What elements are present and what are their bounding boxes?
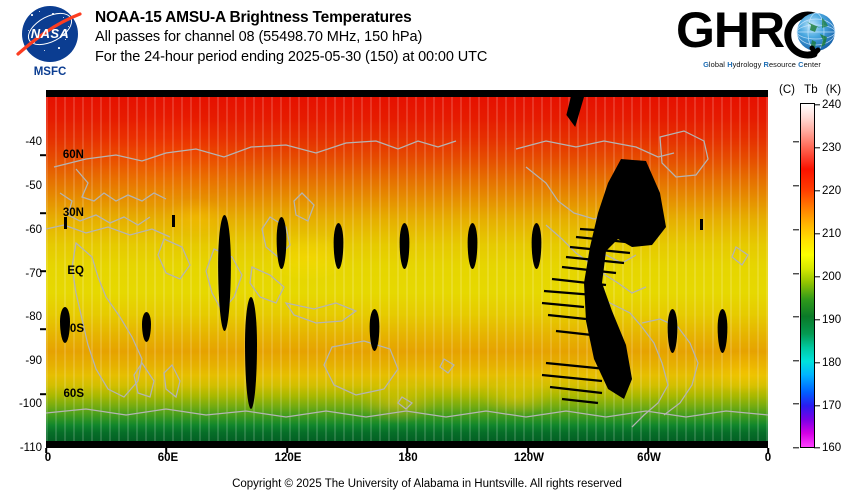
colorbar-celsius-tick: -90 — [25, 355, 42, 367]
y-tick-label: 30N — [63, 207, 84, 219]
colorbar-kelvin-tick: 200 — [822, 271, 841, 283]
map-plot-frame — [46, 90, 768, 448]
colorbar-kelvin-tick: 160 — [822, 442, 841, 454]
nasa-center-label: MSFC — [14, 66, 86, 78]
copyright-notice: Copyright © 2025 The University of Alaba… — [0, 478, 854, 490]
colorbar-header: (C) Tb (K) — [779, 84, 853, 96]
colorbar-gradient — [800, 103, 815, 448]
y-tick-label: EQ — [67, 265, 84, 277]
x-tick-label: 120W — [514, 452, 544, 464]
ghrc-acronym-icon: GHR — [676, 4, 848, 60]
colorbar-kelvin-tick: 170 — [822, 400, 841, 412]
missing-data-swath-americas — [46, 97, 768, 441]
brightness-temperature-map — [46, 97, 768, 441]
colorbar-variable-label: Tb — [804, 84, 817, 96]
colorbar-kelvin-unit: (K) — [826, 84, 841, 96]
x-tick-label: 0 — [45, 452, 51, 464]
subtitle-period: For the 24-hour period ending 2025-05-30… — [95, 47, 655, 67]
colorbar-celsius-tick: -70 — [25, 268, 42, 280]
colorbar-kelvin-tick: 230 — [822, 142, 841, 154]
nasa-wordmark: NASA — [22, 27, 78, 40]
x-tick-label: 60W — [637, 452, 661, 464]
y-tick-label: 60S — [64, 388, 84, 400]
x-tick-label: 180 — [398, 452, 417, 464]
title-block: NOAA-15 AMSU-A Brightness Temperatures A… — [95, 8, 655, 67]
nasa-logo: NASA MSFC — [14, 6, 86, 82]
svg-text:GHR: GHR — [676, 4, 785, 58]
colorbar-celsius-tick: -110 — [20, 442, 42, 454]
ghrc-full-name: Global Hydrology Resource Center — [676, 60, 848, 69]
colorbar-celsius-unit: (C) — [779, 84, 795, 96]
y-tick-label: 60N — [63, 149, 84, 161]
colorbar-scale — [800, 103, 815, 448]
colorbar-kelvin-tick: 190 — [822, 314, 841, 326]
ghrc-logo: GHR Global Hydrology Resource Center — [676, 4, 848, 80]
x-tick-label: 120E — [275, 452, 302, 464]
colorbar-celsius-tick: -100 — [19, 398, 42, 410]
colorbar-celsius-tick: -60 — [25, 224, 42, 236]
colorbar-kelvin-tick: 180 — [822, 357, 841, 369]
colorbar-celsius-tick: -40 — [25, 136, 42, 148]
colorbar-celsius-tick: -50 — [25, 180, 42, 192]
colorbar-celsius-tick: -80 — [25, 311, 42, 323]
colorbar-kelvin-tick: 210 — [822, 228, 841, 240]
y-tick-label: 30S — [64, 323, 84, 335]
x-tick-label: 60E — [158, 452, 178, 464]
page-title: NOAA-15 AMSU-A Brightness Temperatures — [95, 8, 655, 27]
colorbar-kelvin-tick: 240 — [822, 99, 841, 111]
subtitle-channel: All passes for channel 08 (55498.70 MHz,… — [95, 27, 655, 47]
colorbar-kelvin-tick: 220 — [822, 185, 841, 197]
x-tick-label: 0 — [765, 452, 771, 464]
